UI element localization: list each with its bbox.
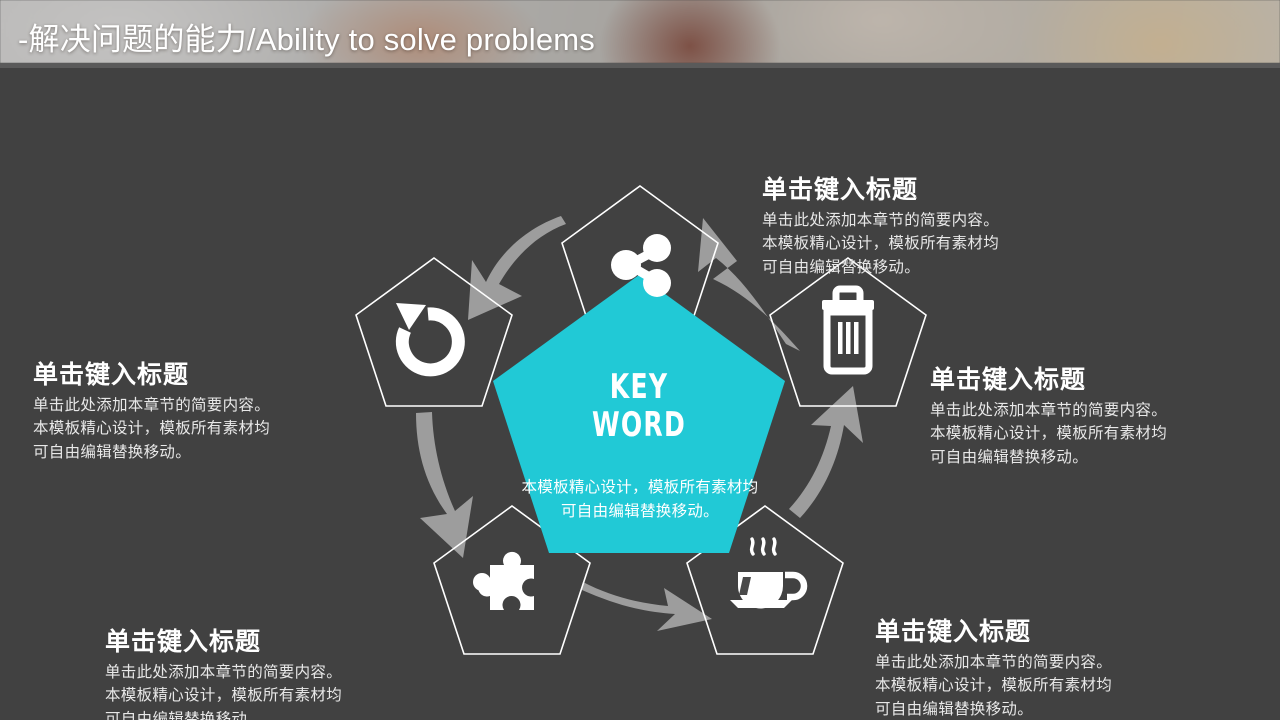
undo-icon bbox=[396, 303, 458, 370]
text-block-left-line-3: 可自由编辑替换移动。 bbox=[33, 441, 270, 465]
text-block-top-line-3: 可自由编辑替换移动。 bbox=[762, 256, 999, 280]
puzzle-icon bbox=[473, 552, 534, 610]
text-block-bottom-left-line-3: 可自由编辑替换移动。 bbox=[105, 708, 342, 720]
text-block-left: 单击键入标题 单击此处添加本章节的简要内容。 本模板精心设计，模板所有素材均 可… bbox=[33, 361, 270, 464]
text-block-top-line-2: 本模板精心设计，模板所有素材均 bbox=[762, 232, 999, 256]
text-block-bottom-left-title: 单击键入标题 bbox=[105, 628, 342, 657]
arrow-bottom-left bbox=[416, 412, 473, 558]
text-block-bottom-right-title: 单击键入标题 bbox=[875, 618, 1112, 647]
text-block-top-line-1: 单击此处添加本章节的简要内容。 bbox=[762, 209, 999, 233]
text-block-right-title: 单击键入标题 bbox=[930, 366, 1167, 395]
text-block-left-title: 单击键入标题 bbox=[33, 361, 270, 390]
text-block-bottom-right-line-2: 本模板精心设计，模板所有素材均 bbox=[875, 674, 1112, 698]
text-block-right: 单击键入标题 单击此处添加本章节的简要内容。 本模板精心设计，模板所有素材均 可… bbox=[930, 366, 1167, 469]
text-block-left-line-2: 本模板精心设计，模板所有素材均 bbox=[33, 417, 270, 441]
text-block-top-title: 单击键入标题 bbox=[762, 176, 999, 205]
text-block-bottom-left-line-2: 本模板精心设计，模板所有素材均 bbox=[105, 684, 342, 708]
text-block-top: 单击键入标题 单击此处添加本章节的简要内容。 本模板精心设计，模板所有素材均 可… bbox=[762, 176, 999, 279]
text-block-right-line-3: 可自由编辑替换移动。 bbox=[930, 446, 1167, 470]
diagram-stage: KEY WORD 本模板精心设计，模板所有素材均可自由编辑替换移动。 单击键入标… bbox=[0, 68, 1280, 720]
text-block-bottom-right: 单击键入标题 单击此处添加本章节的简要内容。 本模板精心设计，模板所有素材均 可… bbox=[875, 618, 1112, 720]
arrow-bottom-center bbox=[582, 582, 712, 631]
coffee-icon bbox=[730, 539, 804, 609]
page-title: -解决问题的能力/Ability to solve problems bbox=[18, 14, 595, 59]
arrow-top-left bbox=[468, 216, 566, 320]
center-body-text: 本模板精心设计，模板所有素材均可自由编辑替换移动。 bbox=[515, 476, 765, 524]
text-block-bottom-right-line-1: 单击此处添加本章节的简要内容。 bbox=[875, 651, 1112, 675]
trash-icon bbox=[822, 289, 874, 371]
text-block-bottom-left-line-1: 单击此处添加本章节的简要内容。 bbox=[105, 661, 342, 685]
text-block-bottom-left: 单击键入标题 单击此处添加本章节的简要内容。 本模板精心设计，模板所有素材均 可… bbox=[105, 628, 342, 720]
text-block-right-line-2: 本模板精心设计，模板所有素材均 bbox=[930, 422, 1167, 446]
text-block-bottom-right-line-3: 可自由编辑替换移动。 bbox=[875, 698, 1112, 720]
text-block-left-line-1: 单击此处添加本章节的简要内容。 bbox=[33, 394, 270, 418]
text-block-right-line-1: 单击此处添加本章节的简要内容。 bbox=[930, 399, 1167, 423]
